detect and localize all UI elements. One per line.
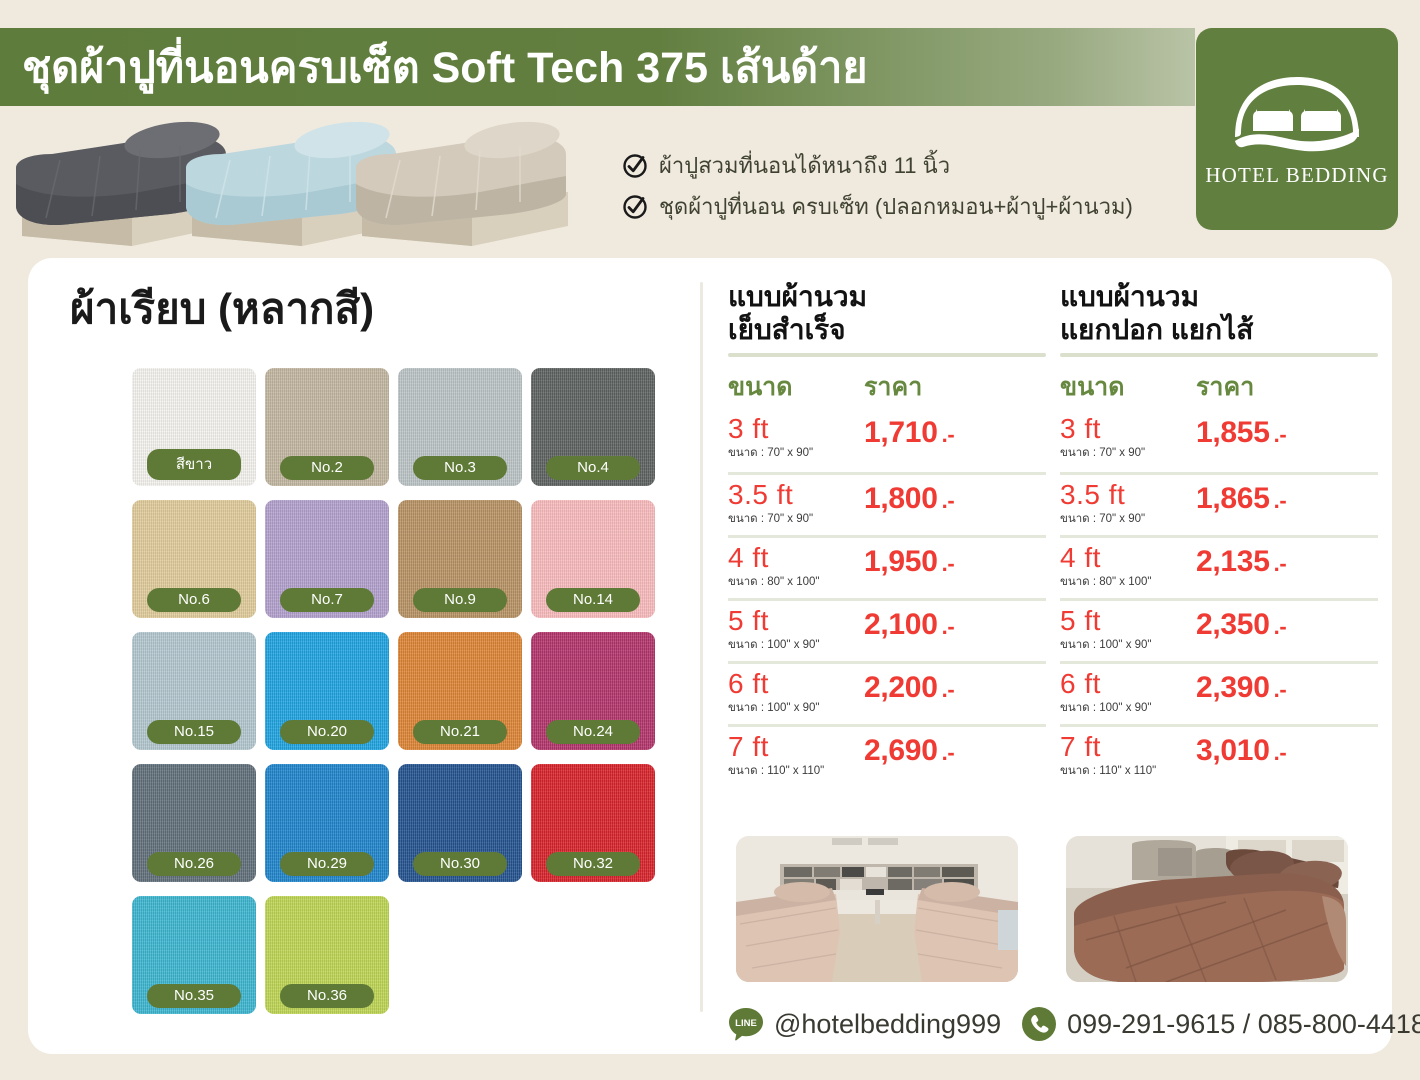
size-value: 5 ft xyxy=(728,606,864,635)
color-swatch[interactable]: No.35 xyxy=(132,896,256,1014)
color-swatch[interactable]: No.20 xyxy=(265,632,389,750)
price-table-title-line2: แยกปอก แยกไส้ xyxy=(1060,313,1378,346)
price-row: 3 ftขนาด : 70" x 90"1,855.- xyxy=(1060,409,1378,472)
price-cell: 2,690.- xyxy=(864,732,954,768)
size-dimension: ขนาด : 100" x 90" xyxy=(728,699,864,717)
price-row: 5 ftขนาด : 100" x 90"2,350.- xyxy=(1060,598,1378,661)
price-value: 1,710 xyxy=(864,416,938,449)
size-dimension: ขนาด : 70" x 90" xyxy=(728,510,864,528)
price-cell: 1,950.- xyxy=(864,543,954,579)
size-dimension: ขนาด : 110" x 110" xyxy=(1060,762,1196,780)
bed-pillows-logo-icon xyxy=(1227,71,1367,157)
color-swatch[interactable]: No.36 xyxy=(265,896,389,1014)
price-table-body: 3 ftขนาด : 70" x 90"1,855.-3.5 ftขนาด : … xyxy=(1060,409,1378,787)
swatch-label: No.3 xyxy=(413,456,507,480)
brown-bed-image xyxy=(1066,836,1348,982)
size-cell: 4 ftขนาด : 80" x 100" xyxy=(1060,543,1196,591)
size-value: 3.5 ft xyxy=(728,480,864,509)
swatch-label: No.30 xyxy=(413,852,507,876)
fabric-swatch-panel: ผ้าเรียบ (หลากสี) สีขาวNo.2No.3No.4No.6N… xyxy=(50,276,690,1014)
price-cell: 2,135.- xyxy=(1196,543,1286,579)
color-swatch[interactable]: No.29 xyxy=(265,764,389,882)
header-bar: ชุดผ้าปูที่นอนครบเซ็ต Soft Tech 375 เส้น… xyxy=(0,28,1195,106)
swatch-section-title: ผ้าเรียบ (หลากสี) xyxy=(50,276,690,342)
color-swatch[interactable]: No.30 xyxy=(398,764,522,882)
swatch-label: No.26 xyxy=(147,852,241,876)
price-cell: 1,855.- xyxy=(1196,414,1286,450)
price-table-title-line1: แบบผ้านวม xyxy=(1060,280,1378,313)
color-swatch[interactable]: No.32 xyxy=(531,764,655,882)
size-dimension: ขนาด : 100" x 90" xyxy=(1060,699,1196,717)
phone-numbers-text: 099-291-9615 / 085-800-4418 xyxy=(1067,1009,1420,1040)
color-swatch[interactable]: No.6 xyxy=(132,500,256,618)
check-circle-icon xyxy=(622,153,648,179)
price-table-title-line1: แบบผ้านวม xyxy=(728,280,1046,313)
color-swatch[interactable]: No.7 xyxy=(265,500,389,618)
size-value: 7 ft xyxy=(1060,732,1196,761)
color-swatch[interactable]: No.2 xyxy=(265,368,389,486)
size-dimension: ขนาด : 80" x 100" xyxy=(1060,573,1196,591)
price-cell: 3,010.- xyxy=(1196,732,1286,768)
baht-symbol: .- xyxy=(942,488,955,513)
baht-symbol: .- xyxy=(1274,677,1287,702)
col-header-price: ราคา xyxy=(1196,367,1254,407)
price-value: 2,200 xyxy=(864,671,938,704)
price-cell: 2,100.- xyxy=(864,606,954,642)
color-swatch[interactable]: No.14 xyxy=(531,500,655,618)
price-row: 4 ftขนาด : 80" x 100"2,135.- xyxy=(1060,535,1378,598)
baht-symbol: .- xyxy=(942,614,955,639)
price-value: 2,690 xyxy=(864,734,938,767)
price-value: 2,390 xyxy=(1196,671,1270,704)
size-dimension: ขนาด : 70" x 90" xyxy=(728,444,864,462)
contact-bar: LINE @hotelbedding999 099-291-9615 / 085… xyxy=(728,1006,1420,1042)
swatch-label: No.6 xyxy=(147,588,241,612)
baht-symbol: .- xyxy=(942,740,955,765)
col-header-size: ขนาด xyxy=(728,367,864,407)
price-row: 7 ftขนาด : 110" x 110"3,010.- xyxy=(1060,724,1378,787)
swatch-label: No.7 xyxy=(280,588,374,612)
twin-beds-room-photo xyxy=(736,836,1018,982)
color-swatch[interactable]: No.9 xyxy=(398,500,522,618)
color-swatch[interactable]: สีขาว xyxy=(132,368,256,486)
swatch-label: สีขาว xyxy=(147,449,241,480)
swatch-label: No.2 xyxy=(280,456,374,480)
size-dimension: ขนาด : 100" x 90" xyxy=(728,636,864,654)
price-value: 3,010 xyxy=(1196,734,1270,767)
price-value: 1,865 xyxy=(1196,482,1270,515)
column-divider xyxy=(700,282,703,1012)
swatch-grid: สีขาวNo.2No.3No.4No.6No.7No.9No.14No.15N… xyxy=(50,368,690,1014)
color-swatch[interactable]: No.4 xyxy=(531,368,655,486)
svg-text:LINE: LINE xyxy=(735,1018,757,1029)
size-dimension: ขนาด : 80" x 100" xyxy=(728,573,864,591)
price-row: 4 ftขนาด : 80" x 100"1,950.- xyxy=(728,535,1046,598)
price-table-header: ขนาด ราคา xyxy=(1060,367,1378,409)
price-cell: 1,710.- xyxy=(864,414,954,450)
size-dimension: ขนาด : 70" x 90" xyxy=(1060,444,1196,462)
logo-text: HOTEL BEDDING xyxy=(1205,163,1388,188)
color-swatch[interactable]: No.15 xyxy=(132,632,256,750)
baht-symbol: .- xyxy=(1274,422,1287,447)
size-value: 6 ft xyxy=(728,669,864,698)
feature-item: ชุดผ้าปูที่นอน ครบเซ็ท (ปลอกหมอน+ผ้าปู+ผ… xyxy=(622,189,1133,224)
brand-logo: HOTEL BEDDING xyxy=(1196,28,1398,230)
check-circle-icon xyxy=(622,194,648,220)
price-row: 3.5 ftขนาด : 70" x 90"1,800.- xyxy=(728,472,1046,535)
price-row: 6 ftขนาด : 100" x 90"2,200.- xyxy=(728,661,1046,724)
price-value: 2,350 xyxy=(1196,608,1270,641)
size-cell: 6 ftขนาด : 100" x 90" xyxy=(1060,669,1196,717)
feature-label: ผ้าปูสวมที่นอนได้หนาถึง 11 นิ้ว xyxy=(659,148,950,183)
title-underline xyxy=(728,353,1046,357)
baht-symbol: .- xyxy=(1274,740,1287,765)
size-cell: 3 ftขนาด : 70" x 90" xyxy=(728,414,864,462)
line-id-text: @hotelbedding999 xyxy=(774,1009,1001,1040)
swatch-label: No.32 xyxy=(546,852,640,876)
size-dimension: ขนาด : 110" x 110" xyxy=(728,762,864,780)
size-cell: 3 ftขนาด : 70" x 90" xyxy=(1060,414,1196,462)
color-swatch[interactable]: No.3 xyxy=(398,368,522,486)
phone-icon xyxy=(1021,1006,1057,1042)
col-header-price: ราคา xyxy=(864,367,922,407)
hero-bed-images xyxy=(0,106,600,248)
baht-symbol: .- xyxy=(1274,551,1287,576)
baht-symbol: .- xyxy=(942,422,955,447)
size-dimension: ขนาด : 70" x 90" xyxy=(1060,510,1196,528)
size-cell: 4 ftขนาด : 80" x 100" xyxy=(728,543,864,591)
price-table-title: แบบผ้านวม เย็บสำเร็จ xyxy=(728,280,1046,346)
price-table-title: แบบผ้านวม แยกปอก แยกไส้ xyxy=(1060,280,1378,346)
price-row: 5 ftขนาด : 100" x 90"2,100.- xyxy=(728,598,1046,661)
swatch-label: No.20 xyxy=(280,720,374,744)
feature-list: ผ้าปูสวมที่นอนได้หนาถึง 11 นิ้ว ชุดผ้าปู… xyxy=(622,148,1133,224)
page-title: ชุดผ้าปูที่นอนครบเซ็ต Soft Tech 375 เส้น… xyxy=(0,33,868,101)
baht-symbol: .- xyxy=(942,677,955,702)
size-cell: 7 ftขนาด : 110" x 110" xyxy=(1060,732,1196,780)
brown-bed-photo xyxy=(1066,836,1348,982)
feature-item: ผ้าปูสวมที่นอนได้หนาถึง 11 นิ้ว xyxy=(622,148,1133,183)
col-header-size: ขนาด xyxy=(1060,367,1196,407)
price-value: 1,855 xyxy=(1196,416,1270,449)
swatch-label: No.15 xyxy=(147,720,241,744)
price-row: 7 ftขนาด : 110" x 110"2,690.- xyxy=(728,724,1046,787)
price-table-body: 3 ftขนาด : 70" x 90"1,710.-3.5 ftขนาด : … xyxy=(728,409,1046,787)
price-value: 1,800 xyxy=(864,482,938,515)
size-value: 3.5 ft xyxy=(1060,480,1196,509)
price-row: 6 ftขนาด : 100" x 90"2,390.- xyxy=(1060,661,1378,724)
price-value: 2,135 xyxy=(1196,545,1270,578)
size-value: 3 ft xyxy=(728,414,864,443)
title-underline xyxy=(1060,353,1378,357)
size-cell: 3.5 ftขนาด : 70" x 90" xyxy=(1060,480,1196,528)
swatch-label: No.35 xyxy=(147,984,241,1008)
price-cell: 1,865.- xyxy=(1196,480,1286,516)
price-cell: 2,200.- xyxy=(864,669,954,705)
color-swatch[interactable]: No.24 xyxy=(531,632,655,750)
price-table-title-line2: เย็บสำเร็จ xyxy=(728,313,1046,346)
price-cell: 2,350.- xyxy=(1196,606,1286,642)
size-value: 7 ft xyxy=(728,732,864,761)
swatch-label: No.14 xyxy=(546,588,640,612)
swatch-label: No.21 xyxy=(413,720,507,744)
baht-symbol: .- xyxy=(1274,488,1287,513)
size-cell: 7 ftขนาด : 110" x 110" xyxy=(728,732,864,780)
three-beds-illustration xyxy=(0,106,600,248)
baht-symbol: .- xyxy=(1274,614,1287,639)
size-dimension: ขนาด : 100" x 90" xyxy=(1060,636,1196,654)
swatch-label: No.4 xyxy=(546,456,640,480)
price-value: 2,100 xyxy=(864,608,938,641)
phone-contact[interactable]: 099-291-9615 / 085-800-4418 xyxy=(1021,1006,1420,1042)
size-cell: 6 ftขนาด : 100" x 90" xyxy=(728,669,864,717)
swatch-label: No.36 xyxy=(280,984,374,1008)
price-value: 1,950 xyxy=(864,545,938,578)
price-cell: 1,800.- xyxy=(864,480,954,516)
size-cell: 5 ftขนาด : 100" x 90" xyxy=(728,606,864,654)
price-row: 3.5 ftขนาด : 70" x 90"1,865.- xyxy=(1060,472,1378,535)
color-swatch[interactable]: No.26 xyxy=(132,764,256,882)
line-app-icon: LINE xyxy=(728,1006,764,1042)
size-cell: 5 ftขนาด : 100" x 90" xyxy=(1060,606,1196,654)
size-value: 6 ft xyxy=(1060,669,1196,698)
size-value: 4 ft xyxy=(1060,543,1196,572)
twin-beds-room-image xyxy=(736,836,1018,982)
price-cell: 2,390.- xyxy=(1196,669,1286,705)
size-value: 3 ft xyxy=(1060,414,1196,443)
price-table-separate: แบบผ้านวม แยกปอก แยกไส้ ขนาด ราคา 3 ftขน… xyxy=(1060,280,1378,787)
price-table-stitched: แบบผ้านวม เย็บสำเร็จ ขนาด ราคา 3 ftขนาด … xyxy=(728,280,1046,787)
color-swatch[interactable]: No.21 xyxy=(398,632,522,750)
price-table-header: ขนาด ราคา xyxy=(728,367,1046,409)
size-cell: 3.5 ftขนาด : 70" x 90" xyxy=(728,480,864,528)
line-contact[interactable]: LINE @hotelbedding999 xyxy=(728,1006,1001,1042)
price-row: 3 ftขนาด : 70" x 90"1,710.- xyxy=(728,409,1046,472)
swatch-label: No.24 xyxy=(546,720,640,744)
feature-label: ชุดผ้าปูที่นอน ครบเซ็ท (ปลอกหมอน+ผ้าปู+ผ… xyxy=(659,189,1133,224)
content-card: ผ้าเรียบ (หลากสี) สีขาวNo.2No.3No.4No.6N… xyxy=(28,258,1392,1054)
size-value: 4 ft xyxy=(728,543,864,572)
swatch-label: No.9 xyxy=(413,588,507,612)
size-value: 5 ft xyxy=(1060,606,1196,635)
swatch-label: No.29 xyxy=(280,852,374,876)
baht-symbol: .- xyxy=(942,551,955,576)
